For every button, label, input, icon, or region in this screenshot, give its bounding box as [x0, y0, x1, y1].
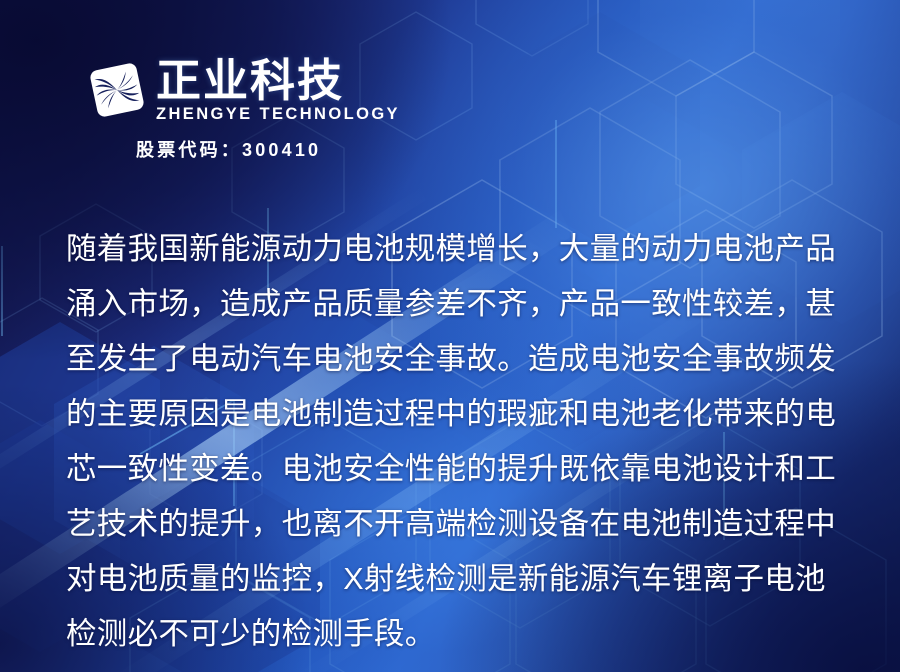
logo-row: 正业科技 ZHENGYE TECHNOLOGY: [86, 58, 400, 123]
zhengye-swirl-diamond-logo-icon: [86, 59, 148, 121]
body-paragraph: 随着我国新能源动力电池规模增长，大量的动力电池产品 涌入市场，造成产品质量参差不…: [66, 222, 856, 662]
poster-canvas: 正业科技 ZHENGYE TECHNOLOGY 股票代码：300410 随着我国…: [0, 0, 900, 672]
brand-name-cn: 正业科技: [156, 58, 344, 103]
logo-text-column: 正业科技 ZHENGYE TECHNOLOGY: [156, 58, 400, 123]
stock-code-label: 股票代码：300410: [136, 136, 321, 162]
brand-name-en: ZHENGYE TECHNOLOGY: [156, 106, 400, 123]
brand-logo-block: 正业科技 ZHENGYE TECHNOLOGY 股票代码：300410: [86, 58, 400, 162]
